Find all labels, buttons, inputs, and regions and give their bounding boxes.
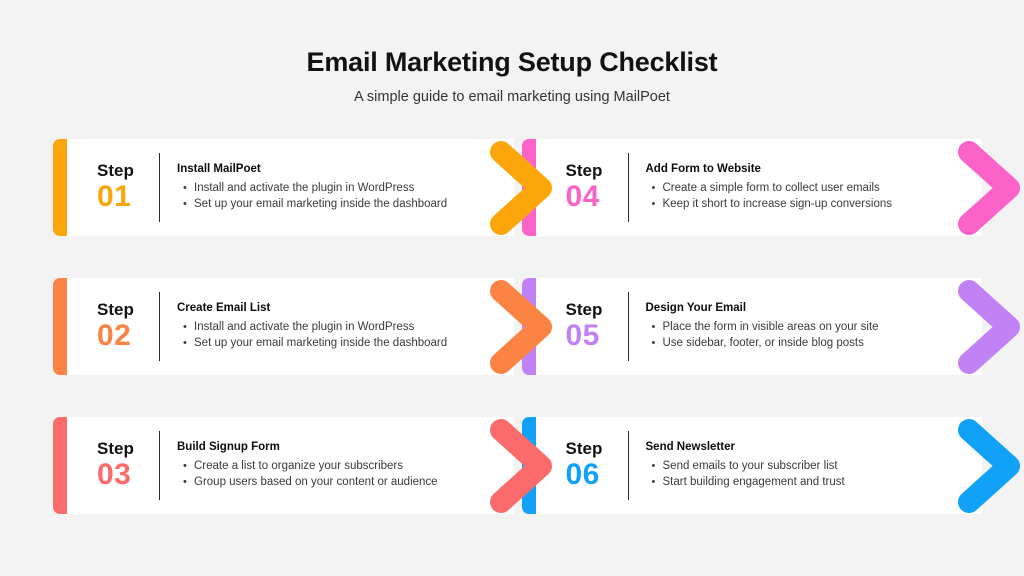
step-content: Design Your EmailPlace the form in visib… [629, 301, 925, 352]
step-number-column: Step03 [67, 439, 159, 492]
step-number: 04 [566, 180, 628, 214]
step-number-column: Step04 [536, 161, 628, 214]
step-word-label: Step [566, 161, 628, 181]
step-card[interactable]: Step01Install MailPoetInstall and activa… [53, 139, 514, 236]
step-bullet: Create a list to organize your subscribe… [194, 459, 456, 475]
step-bullet: Use sidebar, footer, or inside blog post… [663, 336, 925, 352]
step-bullet-list: Create a list to organize your subscribe… [177, 459, 456, 491]
step-bullet: Install and activate the plugin in WordP… [194, 181, 456, 197]
step-card[interactable]: Step04Add Form to WebsiteCreate a simple… [522, 139, 983, 236]
step-number: 03 [97, 458, 159, 492]
step-word-label: Step [566, 300, 628, 320]
page-subtitle: A simple guide to email marketing using … [0, 89, 1024, 106]
step-bullet: Set up your email marketing inside the d… [194, 336, 456, 352]
step-bullet-list: Place the form in visible areas on your … [646, 320, 925, 352]
step-content: Install MailPoetInstall and activate the… [160, 162, 456, 213]
step-number-column: Step02 [67, 300, 159, 353]
page-title: Email Marketing Setup Checklist [0, 46, 1024, 78]
step-card[interactable]: Step02Create Email ListInstall and activ… [53, 278, 514, 375]
step-bullet: Send emails to your subscriber list [663, 459, 925, 475]
step-number-column: Step06 [536, 439, 628, 492]
step-card-body: Step01Install MailPoetInstall and activa… [67, 139, 514, 236]
step-word-label: Step [566, 439, 628, 459]
step-card[interactable]: Step06Send NewsletterSend emails to your… [522, 417, 983, 514]
step-bullet-list: Install and activate the plugin in WordP… [177, 320, 456, 352]
header: Email Marketing Setup Checklist A simple… [0, 0, 1024, 107]
step-accent-bar [53, 417, 67, 514]
step-title: Add Form to Website [646, 162, 925, 176]
step-title: Send Newsletter [646, 440, 925, 454]
step-number-column: Step05 [536, 300, 628, 353]
steps-grid: Step01Install MailPoetInstall and activa… [0, 139, 1024, 556]
step-bullet-list: Send emails to your subscriber list Star… [646, 459, 925, 491]
step-bullet: Start building engagement and trust [663, 475, 925, 491]
step-card-body: Step05Design Your EmailPlace the form in… [536, 278, 983, 375]
step-accent-bar [522, 417, 536, 514]
step-bullet: Place the form in visible areas on your … [663, 320, 925, 336]
step-card-body: Step03Build Signup FormCreate a list to … [67, 417, 514, 514]
step-number: 01 [97, 180, 159, 214]
step-bullet: Install and activate the plugin in WordP… [194, 320, 456, 336]
step-number: 06 [566, 458, 628, 492]
step-accent-bar [53, 139, 67, 236]
step-content: Build Signup FormCreate a list to organi… [160, 440, 456, 491]
step-bullet: Keep it short to increase sign-up conver… [663, 197, 925, 213]
step-bullet: Set up your email marketing inside the d… [194, 197, 456, 213]
step-number: 05 [566, 319, 628, 353]
step-accent-bar [522, 139, 536, 236]
step-number: 02 [97, 319, 159, 353]
step-number-column: Step01 [67, 161, 159, 214]
step-bullet-list: Install and activate the plugin in WordP… [177, 181, 456, 213]
step-card-body: Step02Create Email ListInstall and activ… [67, 278, 514, 375]
step-word-label: Step [97, 300, 159, 320]
step-accent-bar [522, 278, 536, 375]
step-card[interactable]: Step03Build Signup FormCreate a list to … [53, 417, 514, 514]
step-card[interactable]: Step05Design Your EmailPlace the form in… [522, 278, 983, 375]
step-bullet: Create a simple form to collect user ema… [663, 181, 925, 197]
step-title: Install MailPoet [177, 162, 456, 176]
step-title: Create Email List [177, 301, 456, 315]
step-content: Create Email ListInstall and activate th… [160, 301, 456, 352]
step-accent-bar [53, 278, 67, 375]
step-content: Add Form to WebsiteCreate a simple form … [629, 162, 925, 213]
step-content: Send NewsletterSend emails to your subsc… [629, 440, 925, 491]
infographic-page: Email Marketing Setup Checklist A simple… [0, 0, 1024, 576]
step-card-body: Step04Add Form to WebsiteCreate a simple… [536, 139, 983, 236]
step-title: Build Signup Form [177, 440, 456, 454]
step-card-body: Step06Send NewsletterSend emails to your… [536, 417, 983, 514]
step-title: Design Your Email [646, 301, 925, 315]
step-word-label: Step [97, 439, 159, 459]
step-bullet: Group users based on your content or aud… [194, 475, 456, 491]
step-word-label: Step [97, 161, 159, 181]
step-bullet-list: Create a simple form to collect user ema… [646, 181, 925, 213]
